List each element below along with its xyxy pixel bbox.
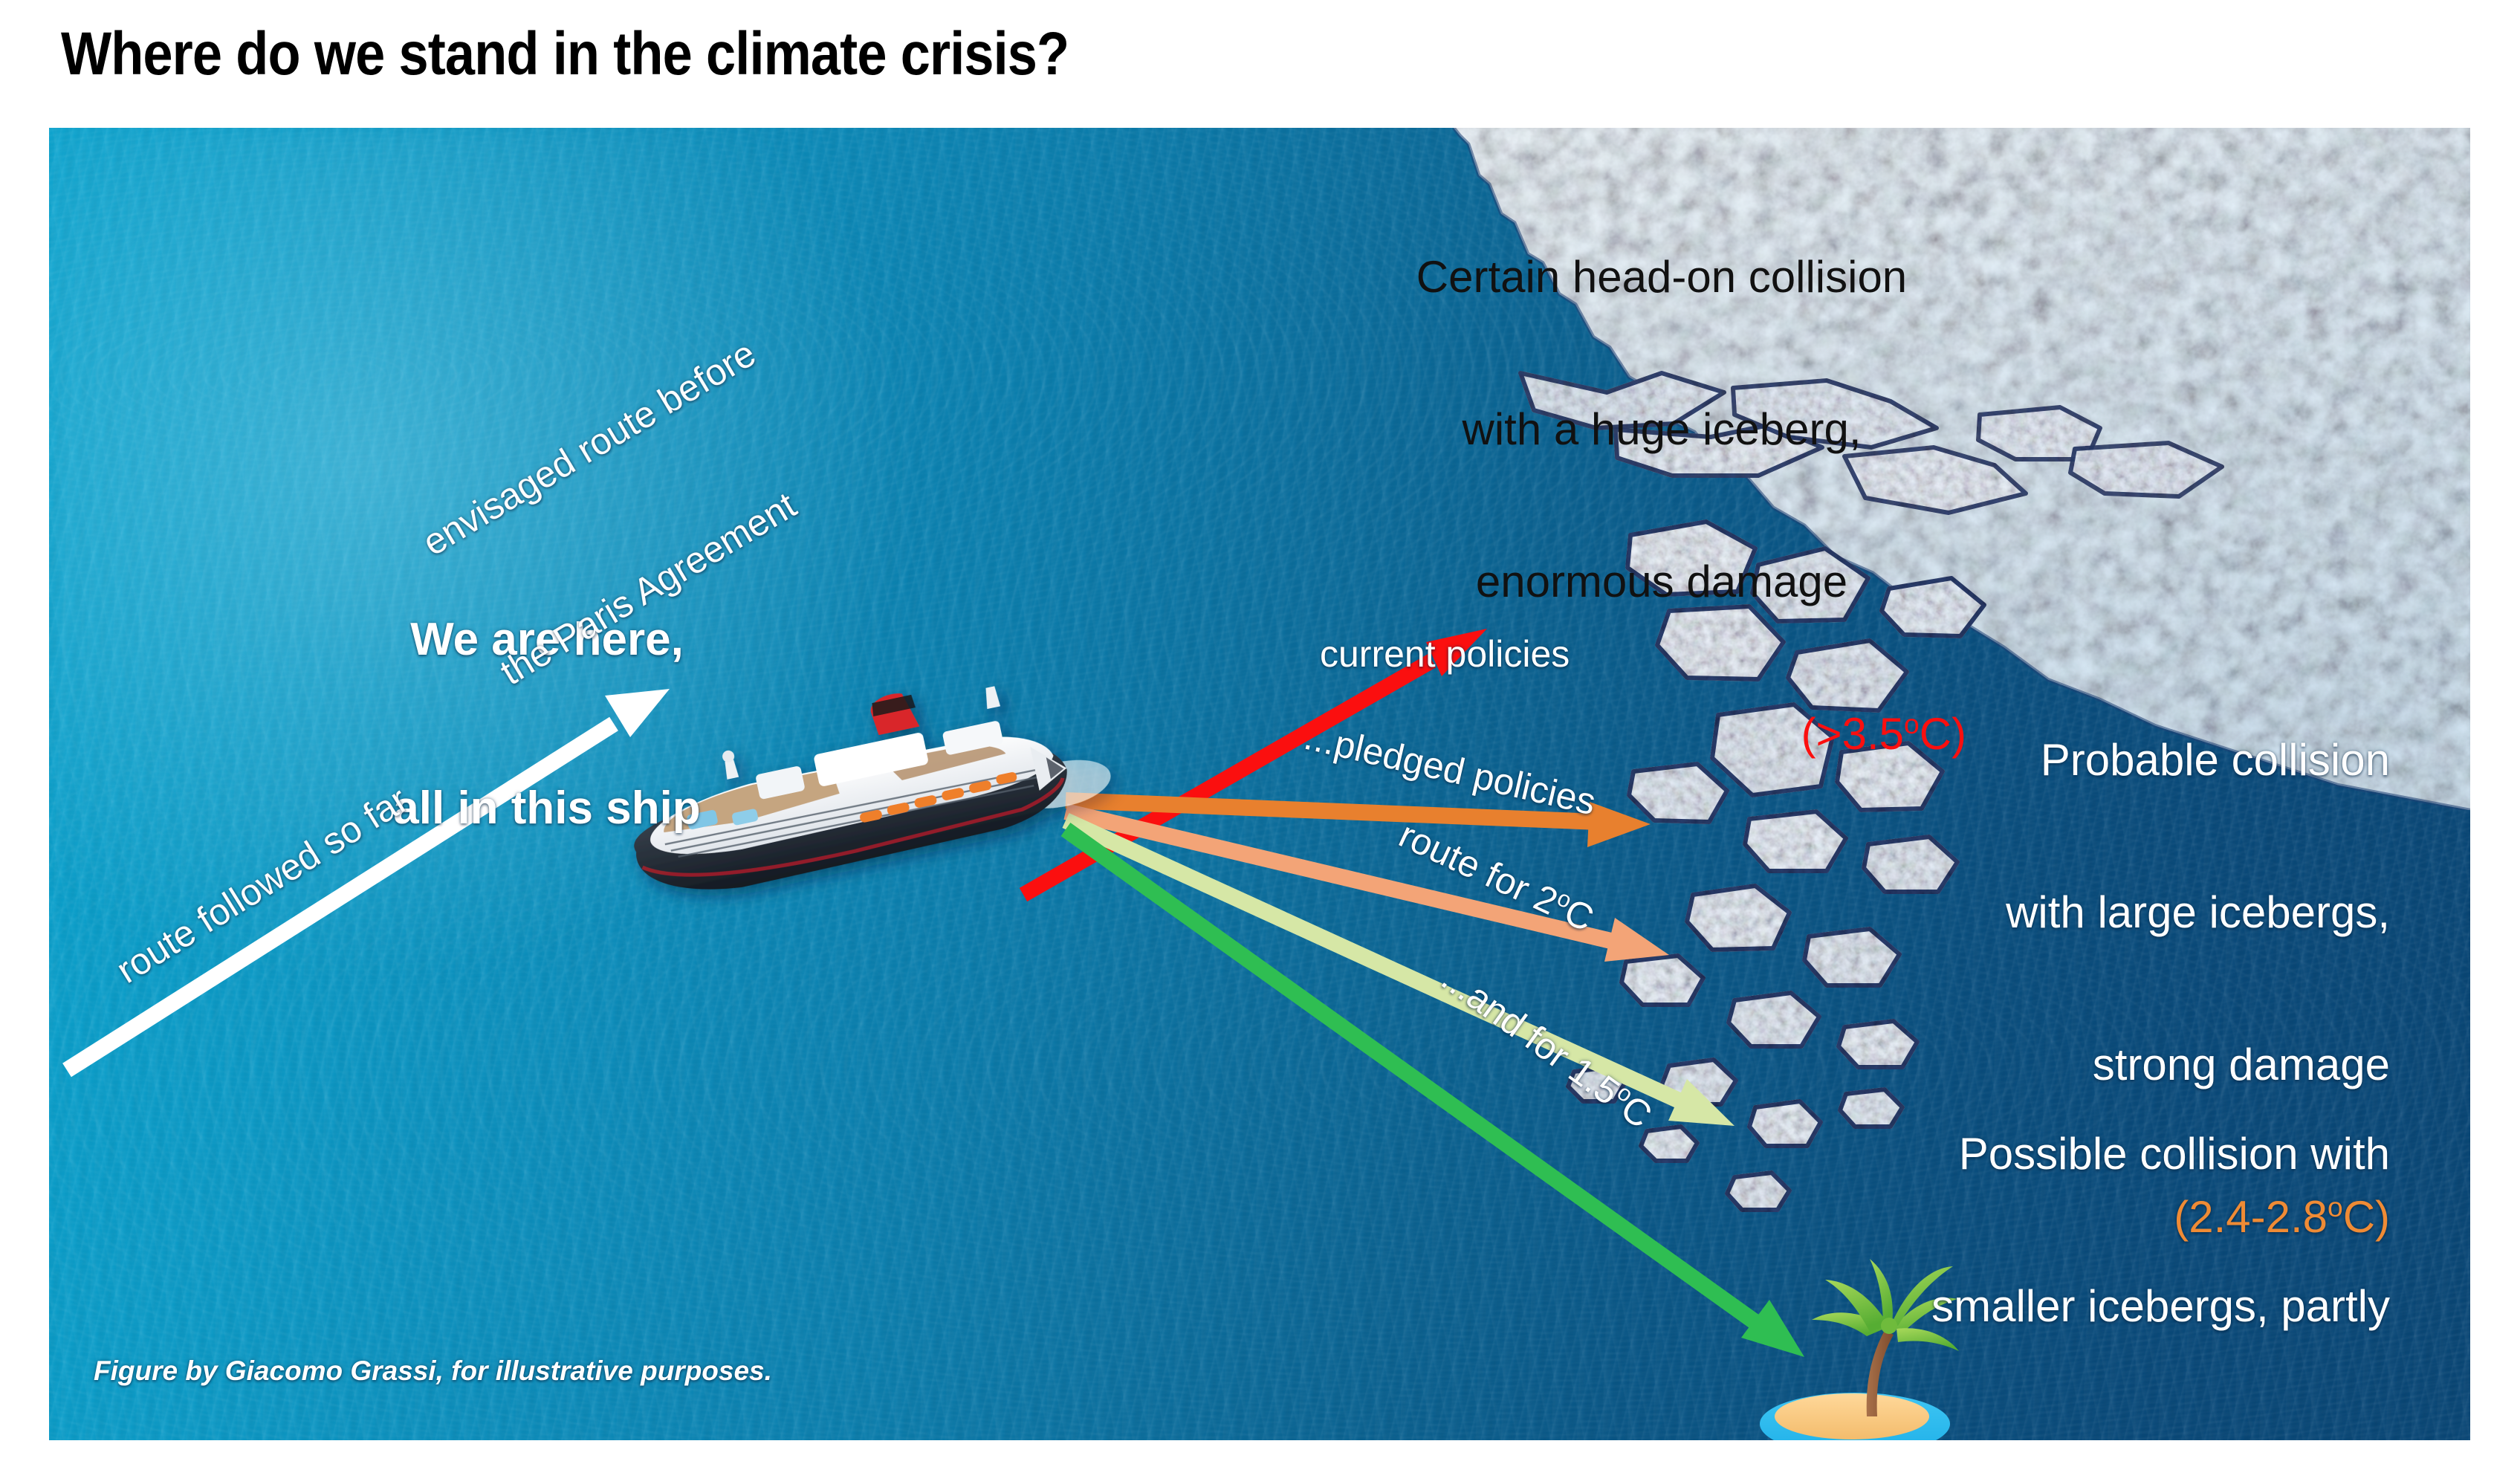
outcome-possible-line3: manageable damage xyxy=(1773,1434,2390,1440)
outcome-probable-line1: Probable collision xyxy=(1803,735,2390,786)
outcome-possible-text: Possible collision with smaller icebergs… xyxy=(1773,1027,2390,1440)
figure-caption: Figure by Giacomo Grassi, for illustrati… xyxy=(94,1356,772,1387)
outcome-possible-line1: Possible collision with xyxy=(1773,1129,2390,1179)
outcome-possible-line2: smaller icebergs, partly xyxy=(1773,1281,2390,1332)
scene-illustration: Certain head-on collision with a huge ic… xyxy=(49,128,2470,1440)
outcome-probable-line2: with large icebergs, xyxy=(1803,887,2390,938)
infographic-canvas: Where do we stand in the climate crisis? xyxy=(0,0,2520,1464)
outcome-severe-line2: with a huge iceberg, xyxy=(1357,404,1966,455)
outcome-severe-line1: Certain head-on collision xyxy=(1357,252,1966,302)
route-label-current-policies: current policies xyxy=(1320,633,1570,676)
outcome-severe-line3: enormous damage xyxy=(1357,557,1966,607)
page-title: Where do we stand in the climate crisis? xyxy=(61,19,1069,89)
